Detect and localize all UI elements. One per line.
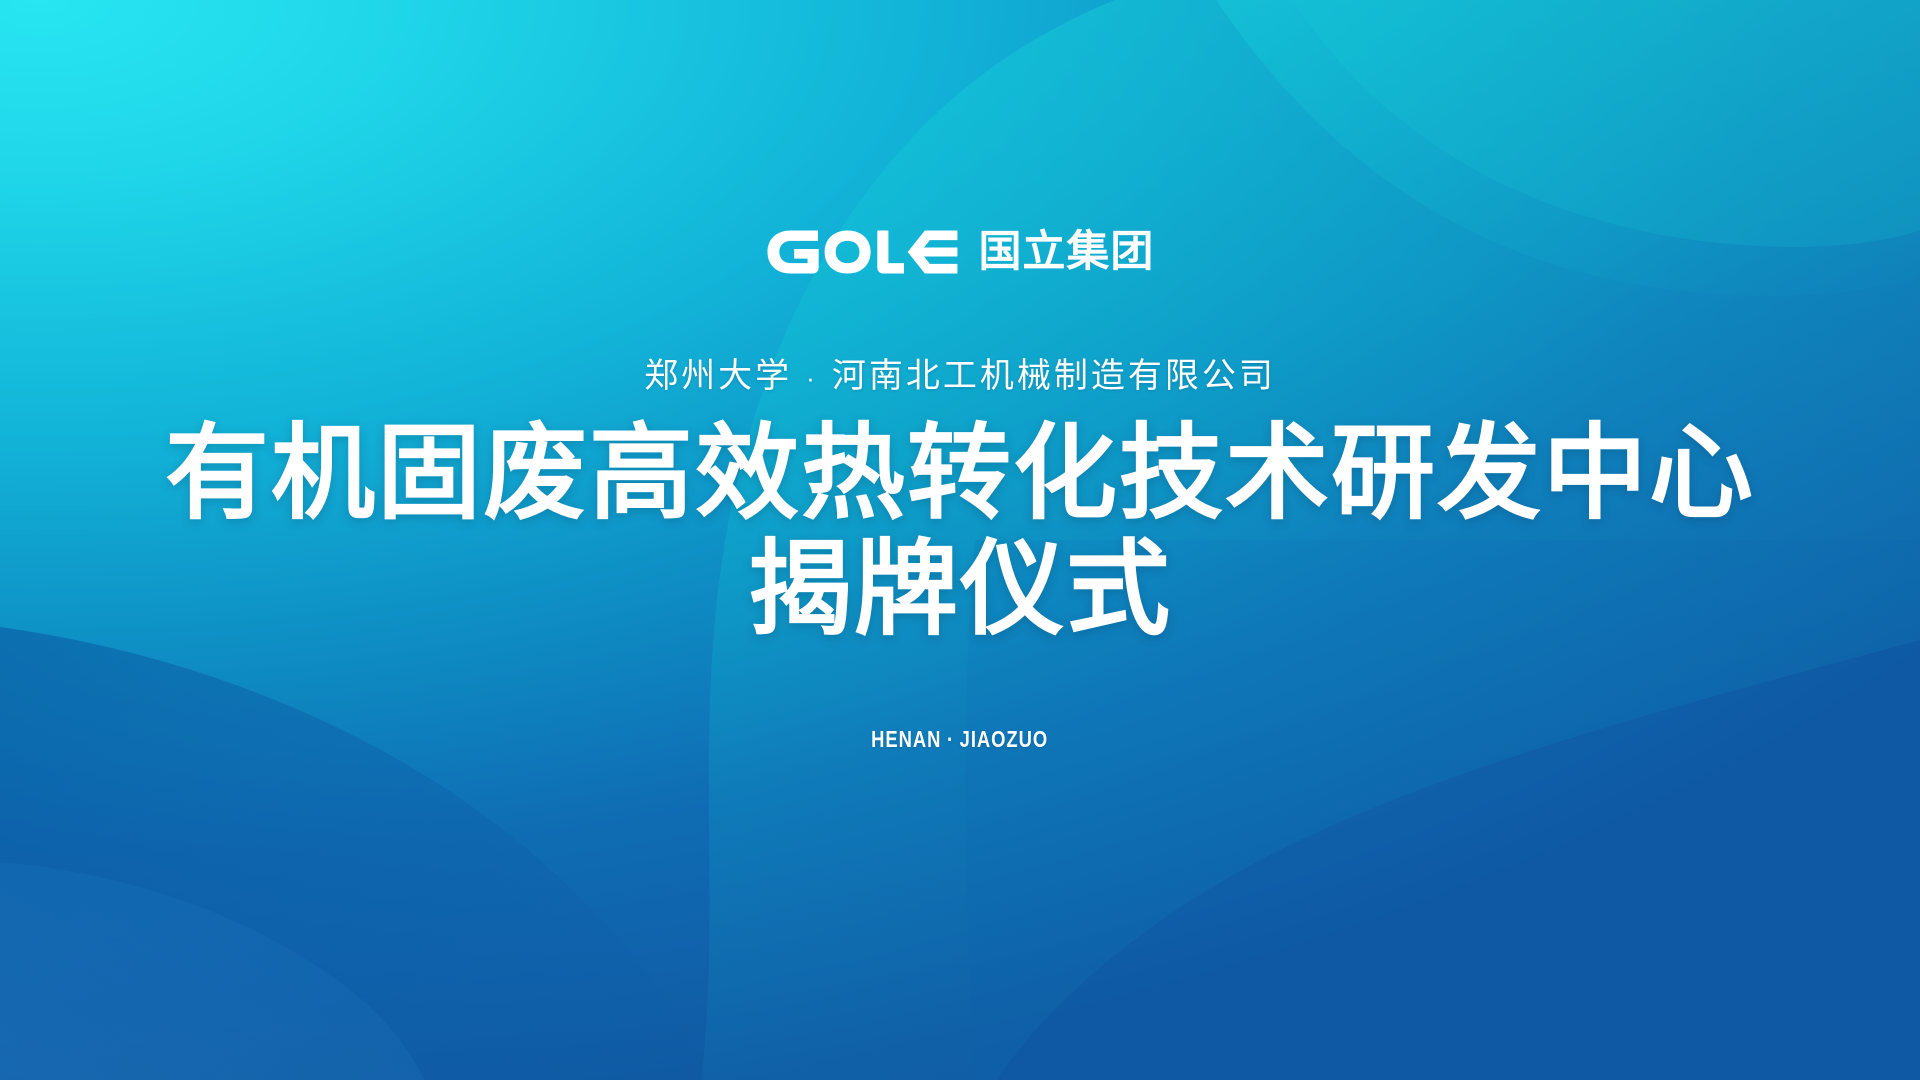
title-line-2: 揭牌仪式 [748, 531, 1172, 647]
presentation-slide: 国立集团 郑州大学·河南北工机械制造有限公司 有机固废高效热转化技术研发中心 揭… [0, 0, 1920, 1080]
subtitle-separator: · [792, 363, 832, 393]
organization-right: 河南北工机械制造有限公司 [832, 357, 1276, 395]
location-region: HENAN [871, 726, 941, 752]
location-separator: · [942, 726, 960, 752]
logo-chinese-name: 国立集团 [978, 231, 1154, 274]
organization-left: 郑州大学 [644, 357, 792, 395]
brand-logo-lockup: 国立集团 [766, 228, 1155, 276]
gole-wordmark-logo-icon [766, 229, 959, 275]
location-footer: HENAN·JIAOZUO [871, 726, 1048, 753]
organizations-subtitle: 郑州大学·河南北工机械制造有限公司 [644, 348, 1276, 397]
slide-content: 国立集团 郑州大学·河南北工机械制造有限公司 有机固废高效热转化技术研发中心 揭… [0, 0, 1920, 1080]
title-line-1: 有机固废高效热转化技术研发中心 [165, 415, 1755, 531]
location-city: JIAOZUO [960, 726, 1049, 752]
main-title: 有机固废高效热转化技术研发中心 揭牌仪式 [0, 415, 1920, 648]
